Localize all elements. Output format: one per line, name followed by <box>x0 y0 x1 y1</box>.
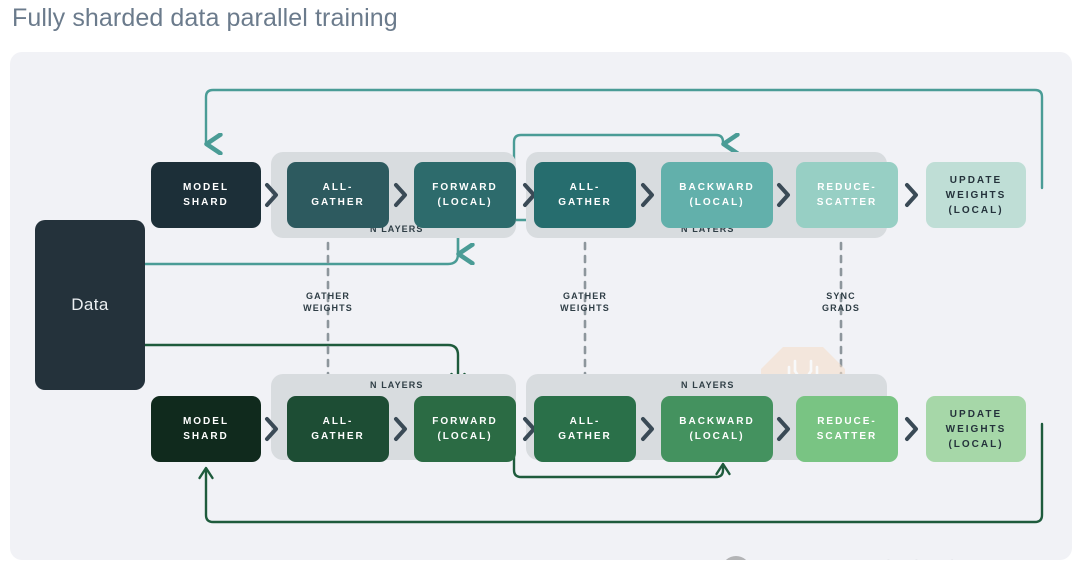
row1-chevron-6 <box>904 182 920 208</box>
row1-node-backward-local[interactable]: BACKWARD (LOCAL) <box>661 162 773 228</box>
wechat-icon <box>722 555 762 561</box>
row1-node-model-shard[interactable]: MODEL SHARD <box>151 162 261 228</box>
gather-weights-label-1: GATHER WEIGHTS <box>278 290 378 314</box>
row2-node-reduce-scatter[interactable]: REDUCE- SCATTER <box>796 396 898 462</box>
sync-grads-label: SYNC GRADS <box>791 290 891 314</box>
row1-chevron-4 <box>640 182 656 208</box>
data-source-box[interactable]: Data <box>35 220 145 390</box>
row1-node-update-weights[interactable]: UPDATE WEIGHTS (LOCAL) <box>926 162 1026 228</box>
row1-chevron-2 <box>393 182 409 208</box>
row1-chevron-1 <box>264 182 280 208</box>
row1-chevron-5 <box>776 182 792 208</box>
row1-node-forward-local[interactable]: FORWARD (LOCAL) <box>414 162 516 228</box>
wechat-label: 公众号 · 慢慢学 AIGC <box>772 552 1046 560</box>
diagram-root: Fully sharded data parallel training <box>0 0 1080 570</box>
wechat-watermark: 公众号 · 慢慢学 AIGC <box>722 552 1046 560</box>
row2-chevron-5 <box>776 416 792 442</box>
gather-weights-label-2: GATHER WEIGHTS <box>535 290 635 314</box>
row2-chevron-1 <box>264 416 280 442</box>
row2-group-label-2: N LAYERS <box>681 380 734 390</box>
row1-node-reduce-scatter[interactable]: REDUCE- SCATTER <box>796 162 898 228</box>
row2-chevron-4 <box>640 416 656 442</box>
diagram-panel: semi analysis 公众号 · 慢慢学 AIGC N LAYERS N … <box>10 52 1072 560</box>
row2-node-all-gather-2[interactable]: ALL- GATHER <box>534 396 636 462</box>
row2-node-all-gather-1[interactable]: ALL- GATHER <box>287 396 389 462</box>
page-title: Fully sharded data parallel training <box>12 4 398 33</box>
row1-node-all-gather-2[interactable]: ALL- GATHER <box>534 162 636 228</box>
row2-chevron-2 <box>393 416 409 442</box>
row2-node-model-shard[interactable]: MODEL SHARD <box>151 396 261 462</box>
row2-group-label-1: N LAYERS <box>370 380 423 390</box>
row2-node-forward-local[interactable]: FORWARD (LOCAL) <box>414 396 516 462</box>
row2-node-update-weights[interactable]: UPDATE WEIGHTS (LOCAL) <box>926 396 1026 462</box>
row2-chevron-6 <box>904 416 920 442</box>
row2-node-backward-local[interactable]: BACKWARD (LOCAL) <box>661 396 773 462</box>
row1-node-all-gather-1[interactable]: ALL- GATHER <box>287 162 389 228</box>
